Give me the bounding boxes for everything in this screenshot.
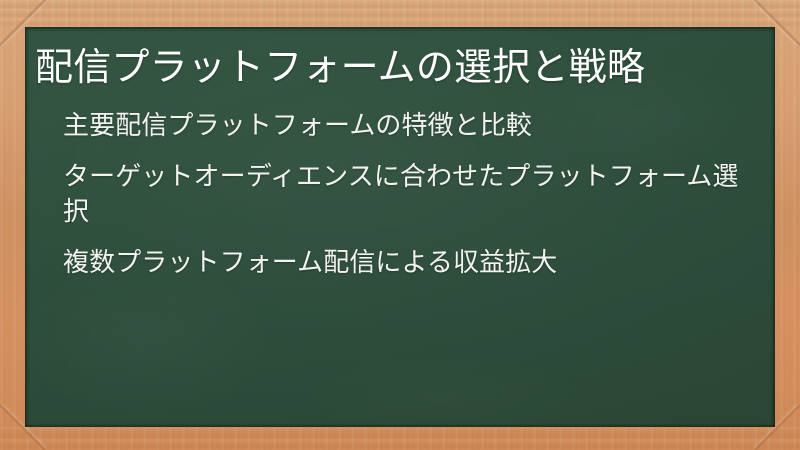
bullet-item: ターゲットオーディエンスに合わせたプラットフォーム選択	[63, 159, 763, 229]
chalkboard-slide: 配信プラットフォームの選択と戦略 主要配信プラットフォームの特徴と比較 ターゲッ…	[0, 0, 800, 450]
slide-title: 配信プラットフォームの選択と戦略	[35, 46, 755, 91]
slide-content: 配信プラットフォームの選択と戦略 主要配信プラットフォームの特徴と比較 ターゲッ…	[30, 27, 770, 427]
bullet-item: 主要配信プラットフォームの特徴と比較	[63, 108, 763, 143]
frame-bottom-ledge	[0, 427, 800, 450]
frame-top-rail	[0, 0, 800, 27]
bullet-item: 複数プラットフォーム配信による収益拡大	[63, 245, 763, 280]
chalkboard-surface: 配信プラットフォームの選択と戦略 主要配信プラットフォームの特徴と比較 ターゲッ…	[25, 27, 775, 427]
bullet-list: 主要配信プラットフォームの特徴と比較 ターゲットオーディエンスに合わせたプラット…	[63, 108, 763, 280]
